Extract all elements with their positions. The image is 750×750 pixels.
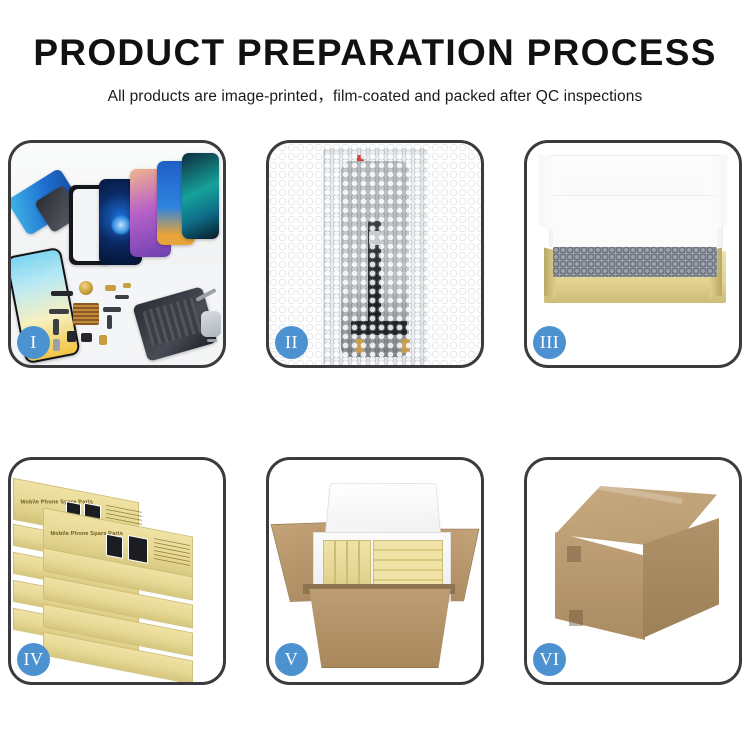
- part-power-flex: [115, 295, 129, 299]
- part-tool-hand: [201, 311, 221, 337]
- part-flex-cable-3: [103, 307, 121, 312]
- part-camera-module: [67, 331, 76, 342]
- page-subtitle: All products are image-printed，film-coat…: [0, 84, 750, 106]
- part-copper-mesh-grid: [73, 303, 99, 325]
- step-badge-4: IV: [17, 643, 50, 676]
- part-gold-bracket-1: [105, 285, 116, 291]
- mailer-bubble-wrapped-contents: [553, 247, 717, 277]
- wrapped-gold-tab-right: [401, 339, 410, 353]
- part-gold-bracket-2: [123, 283, 131, 288]
- step-badge-3: III: [533, 326, 566, 359]
- step-badge-6: VI: [533, 643, 566, 676]
- retail-box-thumb-front-2: [128, 535, 148, 564]
- carton-body: [303, 588, 457, 668]
- wrapped-driver-chip: [369, 231, 381, 245]
- process-step-panel-2: II: [266, 140, 484, 368]
- page-header: PRODUCT PREPARATION PROCESS All products…: [0, 34, 750, 106]
- retail-box-thumb-front-1: [106, 534, 123, 559]
- phone-teal-swirl: [182, 153, 219, 239]
- part-flex-cable-2: [53, 319, 59, 335]
- wrapped-gold-tab-left: [355, 339, 364, 353]
- part-flex-cable-4: [107, 315, 112, 329]
- part-sim-tray: [53, 339, 60, 351]
- process-step-panel-4: Mobile Phone Spare Parts Mobile Phone Sp…: [8, 457, 226, 685]
- retail-box-spec-front: [154, 538, 190, 567]
- part-gold-connector: [99, 335, 107, 345]
- part-speaker-module: [79, 281, 93, 295]
- part-vibration-motor: [81, 333, 92, 342]
- process-step-panel-6: VI: [524, 457, 742, 685]
- part-earpiece-mesh: [51, 291, 73, 296]
- shipping-carton-tab-upper: [567, 546, 581, 562]
- step-badge-5: V: [275, 643, 308, 676]
- process-step-grid: I II: [8, 140, 742, 685]
- retail-box-label-top: Mobile Phone Spare Parts: [20, 499, 94, 505]
- step-badge-1: I: [17, 326, 50, 359]
- shipping-carton-tab-lower: [569, 610, 583, 626]
- process-step-panel-3: III: [524, 140, 742, 368]
- step-badge-2: II: [275, 326, 308, 359]
- product-preparation-process-page: PRODUCT PREPARATION PROCESS All products…: [0, 0, 750, 750]
- part-flex-cable-1: [49, 309, 69, 314]
- page-title: PRODUCT PREPARATION PROCESS: [0, 34, 750, 71]
- qc-red-sticker: [357, 155, 364, 161]
- wrapped-connector-bar: [351, 321, 407, 335]
- process-step-panel-5: V: [266, 457, 484, 685]
- process-step-panel-1: I: [8, 140, 226, 368]
- part-screw-set: [207, 339, 217, 342]
